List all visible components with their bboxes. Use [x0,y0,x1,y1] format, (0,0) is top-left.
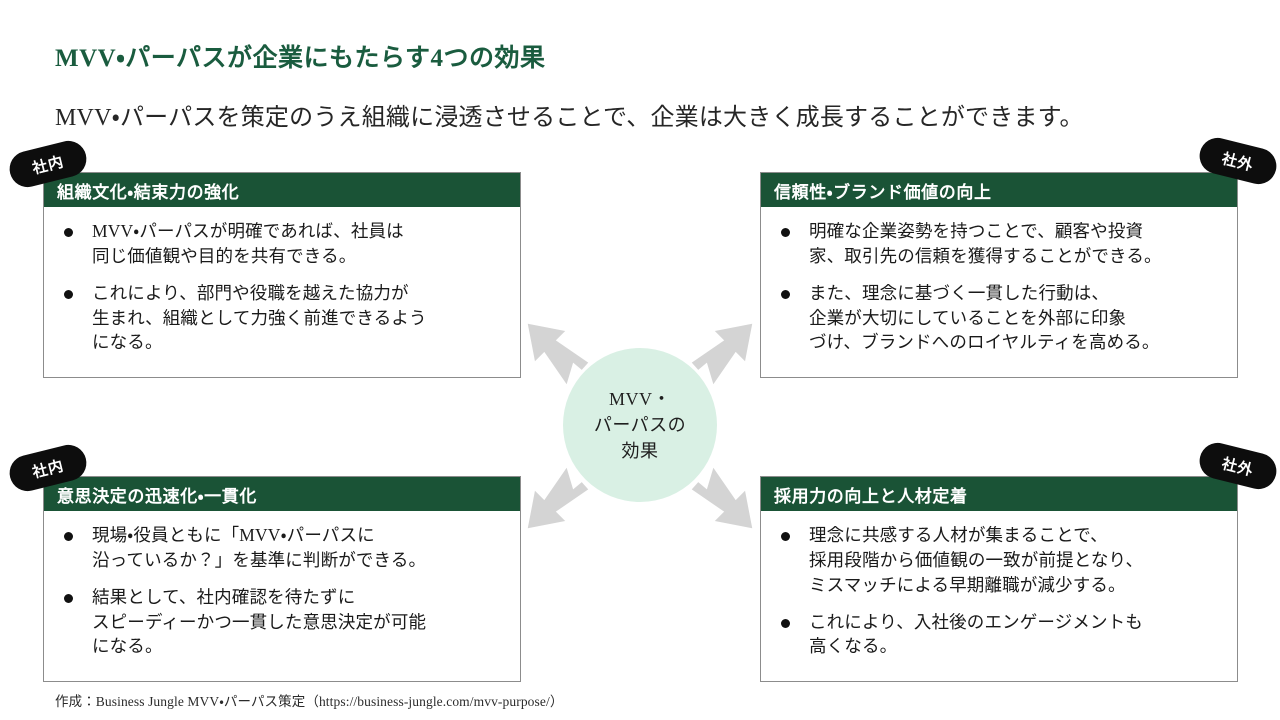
bullet-dot-icon [781,532,790,541]
bullet-dot-icon [64,532,73,541]
card-title: 意思決定の迅速化・一貫化 [57,482,257,507]
card-body: 明確な企業姿勢を持つことで、顧客や投資 家、取引先の信頼を獲得することができる。… [761,207,1237,363]
bullet-item: 理念に共感する人材が集まることで、 採用段階から価値観の一致が前提となり、 ミス… [775,523,1223,598]
bullet-dot-icon [64,290,73,299]
bullet-text: これにより、部門や役職を越えた協力が 生まれ、組織として力強く前進できるよう に… [92,281,506,356]
bullet-dot-icon [64,594,73,603]
bullet-item: 結果として、社内確認を待たずに スピーディーかつ一貫した意思決定が可能 になる。 [58,585,506,660]
hub-line-2: パーパスの [594,412,686,438]
bullet-text: 明確な企業姿勢を持つことで、顧客や投資 家、取引先の信頼を獲得することができる。 [809,219,1223,269]
bullet-list: 現場・役員ともに「MVV・パーパスに 沿っているか？」を基準に判断ができる。 結… [58,523,506,659]
bullet-item: また、理念に基づく一貫した行動は、 企業が大切にしていることを外部に印象 づけ、… [775,281,1223,356]
bullet-dot-icon [64,228,73,237]
card-header: 採用力の向上と人材定着 [761,477,1237,511]
tag-label: 社外 [1220,452,1256,480]
bullet-list: MVV・パーパスが明確であれば、社員は 同じ価値観や目的を共有できる。 これによ… [58,219,506,355]
bullet-list: 明確な企業姿勢を持つことで、顧客や投資 家、取引先の信頼を獲得することができる。… [775,219,1223,355]
card-header: 意思決定の迅速化・一貫化 [44,477,520,511]
hub-line-1: MVV・ [609,386,671,412]
slide-canvas: MVV・パーパスが企業にもたらす4つの効果 MVV・パーパスを策定のうえ組織に浸… [0,0,1280,720]
center-hub: MVV・ パーパスの 効果 [563,348,717,502]
effect-card-top-right: 信頼性・ブランド価値の向上 明確な企業姿勢を持つことで、顧客や投資 家、取引先の… [760,172,1238,378]
tag-label: 社内 [30,454,66,482]
card-body: 現場・役員ともに「MVV・パーパスに 沿っているか？」を基準に判断ができる。 結… [44,511,520,667]
bullet-text: 現場・役員ともに「MVV・パーパスに 沿っているか？」を基準に判断ができる。 [92,523,506,573]
hub-line-3: 効果 [622,438,659,464]
effect-card-bottom-right: 採用力の向上と人材定着 理念に共感する人材が集まることで、 採用段階から価値観の… [760,476,1238,682]
bullet-item: 現場・役員ともに「MVV・パーパスに 沿っているか？」を基準に判断ができる。 [58,523,506,573]
card-title: 採用力の向上と人材定着 [774,482,968,507]
bullet-item: これにより、入社後のエンゲージメントも 高くなる。 [775,610,1223,660]
bullet-item: これにより、部門や役職を越えた協力が 生まれ、組織として力強く前進できるよう に… [58,281,506,356]
bullet-list: 理念に共感する人材が集まることで、 採用段階から価値観の一致が前提となり、 ミス… [775,523,1223,659]
tag-label: 社外 [1220,147,1256,175]
bullet-dot-icon [781,290,790,299]
card-body: 理念に共感する人材が集まることで、 採用段階から価値観の一致が前提となり、 ミス… [761,511,1237,667]
page-title: MVV・パーパスが企業にもたらす4つの効果 [55,38,545,74]
bullet-text: これにより、入社後のエンゲージメントも 高くなる。 [809,610,1223,660]
effect-card-bottom-left: 意思決定の迅速化・一貫化 現場・役員ともに「MVV・パーパスに 沿っているか？」… [43,476,521,682]
source-credit: 作成：Business Jungle MVV・パーパス策定（https://bu… [55,690,563,710]
card-body: MVV・パーパスが明確であれば、社員は 同じ価値観や目的を共有できる。 これによ… [44,207,520,363]
bullet-item: 明確な企業姿勢を持つことで、顧客や投資 家、取引先の信頼を獲得することができる。 [775,219,1223,269]
bullet-dot-icon [781,619,790,628]
bullet-dot-icon [781,228,790,237]
bullet-item: MVV・パーパスが明確であれば、社員は 同じ価値観や目的を共有できる。 [58,219,506,269]
card-title: 信頼性・ブランド価値の向上 [774,178,992,203]
bullet-text: 理念に共感する人材が集まることで、 採用段階から価値観の一致が前提となり、 ミス… [809,523,1223,598]
tag-label: 社内 [30,150,66,178]
card-title: 組織文化・結束力の強化 [57,178,239,203]
card-header: 信頼性・ブランド価値の向上 [761,173,1237,207]
card-header: 組織文化・結束力の強化 [44,173,520,207]
bullet-text: 結果として、社内確認を待たずに スピーディーかつ一貫した意思決定が可能 になる。 [92,585,506,660]
bullet-text: また、理念に基づく一貫した行動は、 企業が大切にしていることを外部に印象 づけ、… [809,281,1223,356]
bullet-text: MVV・パーパスが明確であれば、社員は 同じ価値観や目的を共有できる。 [92,219,506,269]
page-subtitle: MVV・パーパスを策定のうえ組織に浸透させることで、企業は大きく成長することがで… [55,97,1084,132]
effect-card-top-left: 組織文化・結束力の強化 MVV・パーパスが明確であれば、社員は 同じ価値観や目的… [43,172,521,378]
